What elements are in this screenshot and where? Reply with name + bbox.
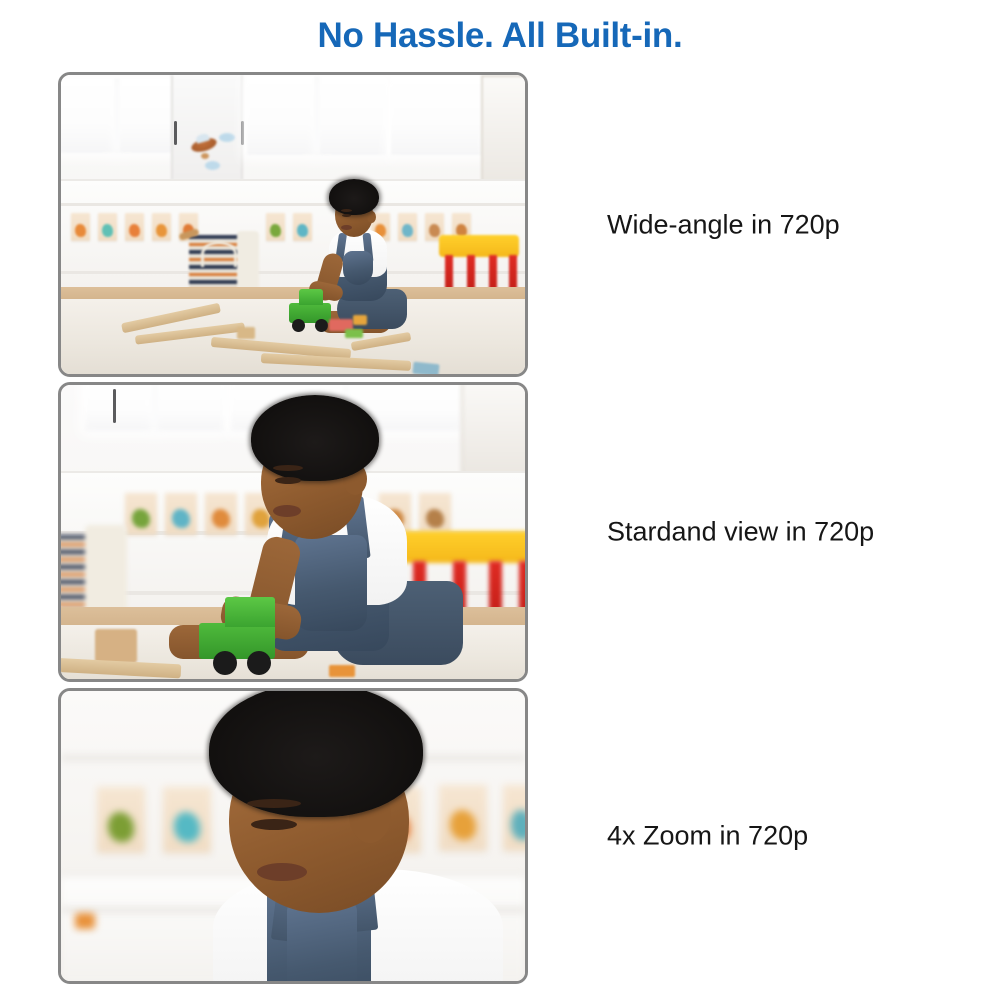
toy-truck-wheel [315, 319, 328, 332]
wall-art-card [293, 213, 312, 241]
scene-wide-angle [61, 75, 525, 374]
caption-4x-zoom: 4x Zoom in 720p [607, 821, 808, 852]
cloud-decal [201, 153, 209, 159]
cloud-decal [219, 133, 235, 142]
dino-illustration [511, 810, 525, 840]
window-band [61, 79, 177, 153]
toy-truck-wheel [247, 651, 271, 675]
wooden-block [95, 629, 137, 663]
wall-art-card [503, 785, 525, 851]
toy-block-orange [329, 665, 355, 677]
dino-illustration [102, 224, 113, 237]
easel [461, 385, 525, 483]
dino-illustration [297, 224, 308, 237]
image-panel-wide-angle [58, 72, 528, 377]
toy-truck-wheel [292, 319, 305, 332]
wall-art-card [419, 493, 451, 535]
dino-illustration [429, 224, 440, 237]
dino-illustration [402, 224, 413, 237]
child-overalls-bib [343, 251, 373, 285]
caption-standard-view: Stardand view in 720p [607, 517, 874, 548]
window-band [247, 77, 387, 155]
child-lips [273, 505, 301, 517]
toy-truck-cab [225, 597, 275, 627]
basket-liner [237, 231, 259, 293]
wall-art-card [98, 213, 117, 241]
dino-illustration [108, 812, 135, 842]
dino-illustration [156, 224, 167, 237]
wall-art-card [71, 213, 90, 241]
scene-4x-zoom [61, 691, 525, 981]
window-pane [61, 79, 114, 153]
window-band [85, 385, 225, 431]
window-pane [391, 77, 487, 155]
child-eyebrow [273, 465, 303, 471]
basket-liner [85, 525, 127, 615]
door-handle[interactable] [241, 121, 244, 145]
dino-illustration [129, 224, 140, 237]
toy-truck-wheel [213, 651, 237, 675]
wall-art-card [125, 213, 144, 241]
child-eye [251, 819, 297, 830]
child-hair [251, 395, 379, 481]
child-eye [342, 214, 351, 217]
cloud-decal [205, 161, 220, 170]
window-pane [247, 77, 314, 155]
dino-illustration [270, 224, 281, 237]
product-feature-graphic: No Hassle. All Built-in. [0, 0, 1000, 1000]
child-overalls-bib [295, 535, 367, 631]
wall-art-card [97, 787, 145, 853]
window-pane [85, 385, 152, 431]
wall-rail [61, 203, 525, 206]
child-hair [329, 179, 379, 215]
toy-block-blue [412, 362, 439, 374]
child-lips [341, 225, 352, 230]
image-panel-4x-zoom [58, 688, 528, 984]
dino-illustration [174, 812, 201, 842]
window-band [391, 77, 487, 155]
toy-block-orange [75, 913, 95, 929]
toy-block-green [345, 329, 363, 338]
dino-illustration [75, 224, 86, 237]
feature-row-wide-angle: Wide-angle in 720p [0, 72, 1000, 377]
dino-illustration [172, 509, 190, 528]
feature-row-4x-zoom: 4x Zoom in 720p [0, 688, 1000, 984]
door-handle[interactable] [174, 121, 177, 145]
scene-standard-view [61, 385, 525, 679]
dino-illustration [212, 509, 230, 528]
feature-row-standard-view: Stardand view in 720p [0, 382, 1000, 682]
toy-truck-cab [299, 289, 323, 305]
window-pane [158, 385, 225, 431]
child-lips [257, 863, 307, 881]
wall-art-card [205, 493, 237, 535]
wooden-block [237, 327, 255, 339]
wall-art-card [152, 213, 171, 241]
door-handle[interactable] [113, 389, 116, 423]
child-ear [367, 211, 376, 223]
toy-table-top [401, 531, 525, 563]
wall-art-card [125, 493, 157, 535]
toy-table-top [439, 235, 519, 257]
page-title: No Hassle. All Built-in. [0, 16, 1000, 56]
wall-art-card [165, 493, 197, 535]
dino-illustration [450, 810, 477, 840]
caption-wide-angle: Wide-angle in 720p [607, 209, 840, 240]
wall-art-card [266, 213, 285, 241]
basket-handle [201, 241, 237, 267]
dino-illustration [132, 509, 150, 528]
child-eyebrow [247, 799, 301, 808]
child-eyebrow [341, 209, 352, 212]
wall-art-card [439, 785, 487, 851]
window-pane [120, 79, 177, 153]
dino-illustration [426, 509, 444, 528]
child-eye [275, 477, 301, 484]
child-overalls-bib [287, 901, 357, 981]
window-pane [320, 77, 387, 155]
image-panel-standard-view [58, 382, 528, 682]
wall-art-card [398, 213, 417, 241]
wall-art-card [163, 787, 211, 853]
wall-rail [61, 271, 525, 274]
toy-block-yellow [353, 315, 367, 325]
child-hair [209, 691, 423, 817]
